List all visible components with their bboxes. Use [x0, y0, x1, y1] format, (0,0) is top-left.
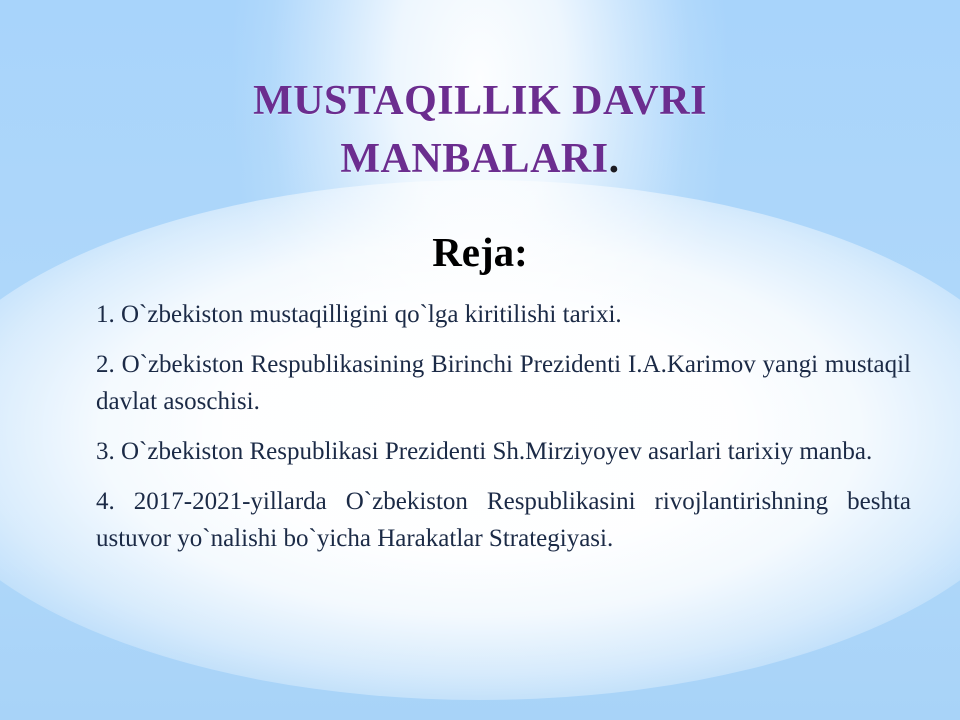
- slide-title-line-1: MUSTAQILLIK DAVRI: [0, 72, 960, 130]
- slide-title-line-2-text: MANBALARI: [340, 136, 608, 182]
- slide-content: MUSTAQILLIK DAVRI MANBALARI. Reja: 1. O`…: [0, 0, 960, 720]
- agenda-item-3: 3. O`zbekiston Respublikasi Prezidenti S…: [96, 433, 911, 470]
- section-heading: Reja:: [0, 228, 960, 276]
- agenda-list: 1. O`zbekiston mustaqilligini qo`lga kir…: [96, 296, 911, 557]
- agenda-item-1: 1. O`zbekiston mustaqilligini qo`lga kir…: [96, 296, 911, 333]
- presentation-slide: MUSTAQILLIK DAVRI MANBALARI. Reja: 1. O`…: [0, 0, 960, 720]
- agenda-item-2: 2. O`zbekiston Respublikasining Birinchi…: [96, 346, 911, 420]
- agenda-item-4: 4. 2017-2021-yillarda O`zbekiston Respub…: [96, 483, 911, 557]
- slide-title-line-2: MANBALARI.: [0, 130, 960, 188]
- slide-title-period: .: [609, 136, 620, 182]
- slide-title: MUSTAQILLIK DAVRI MANBALARI.: [0, 72, 960, 188]
